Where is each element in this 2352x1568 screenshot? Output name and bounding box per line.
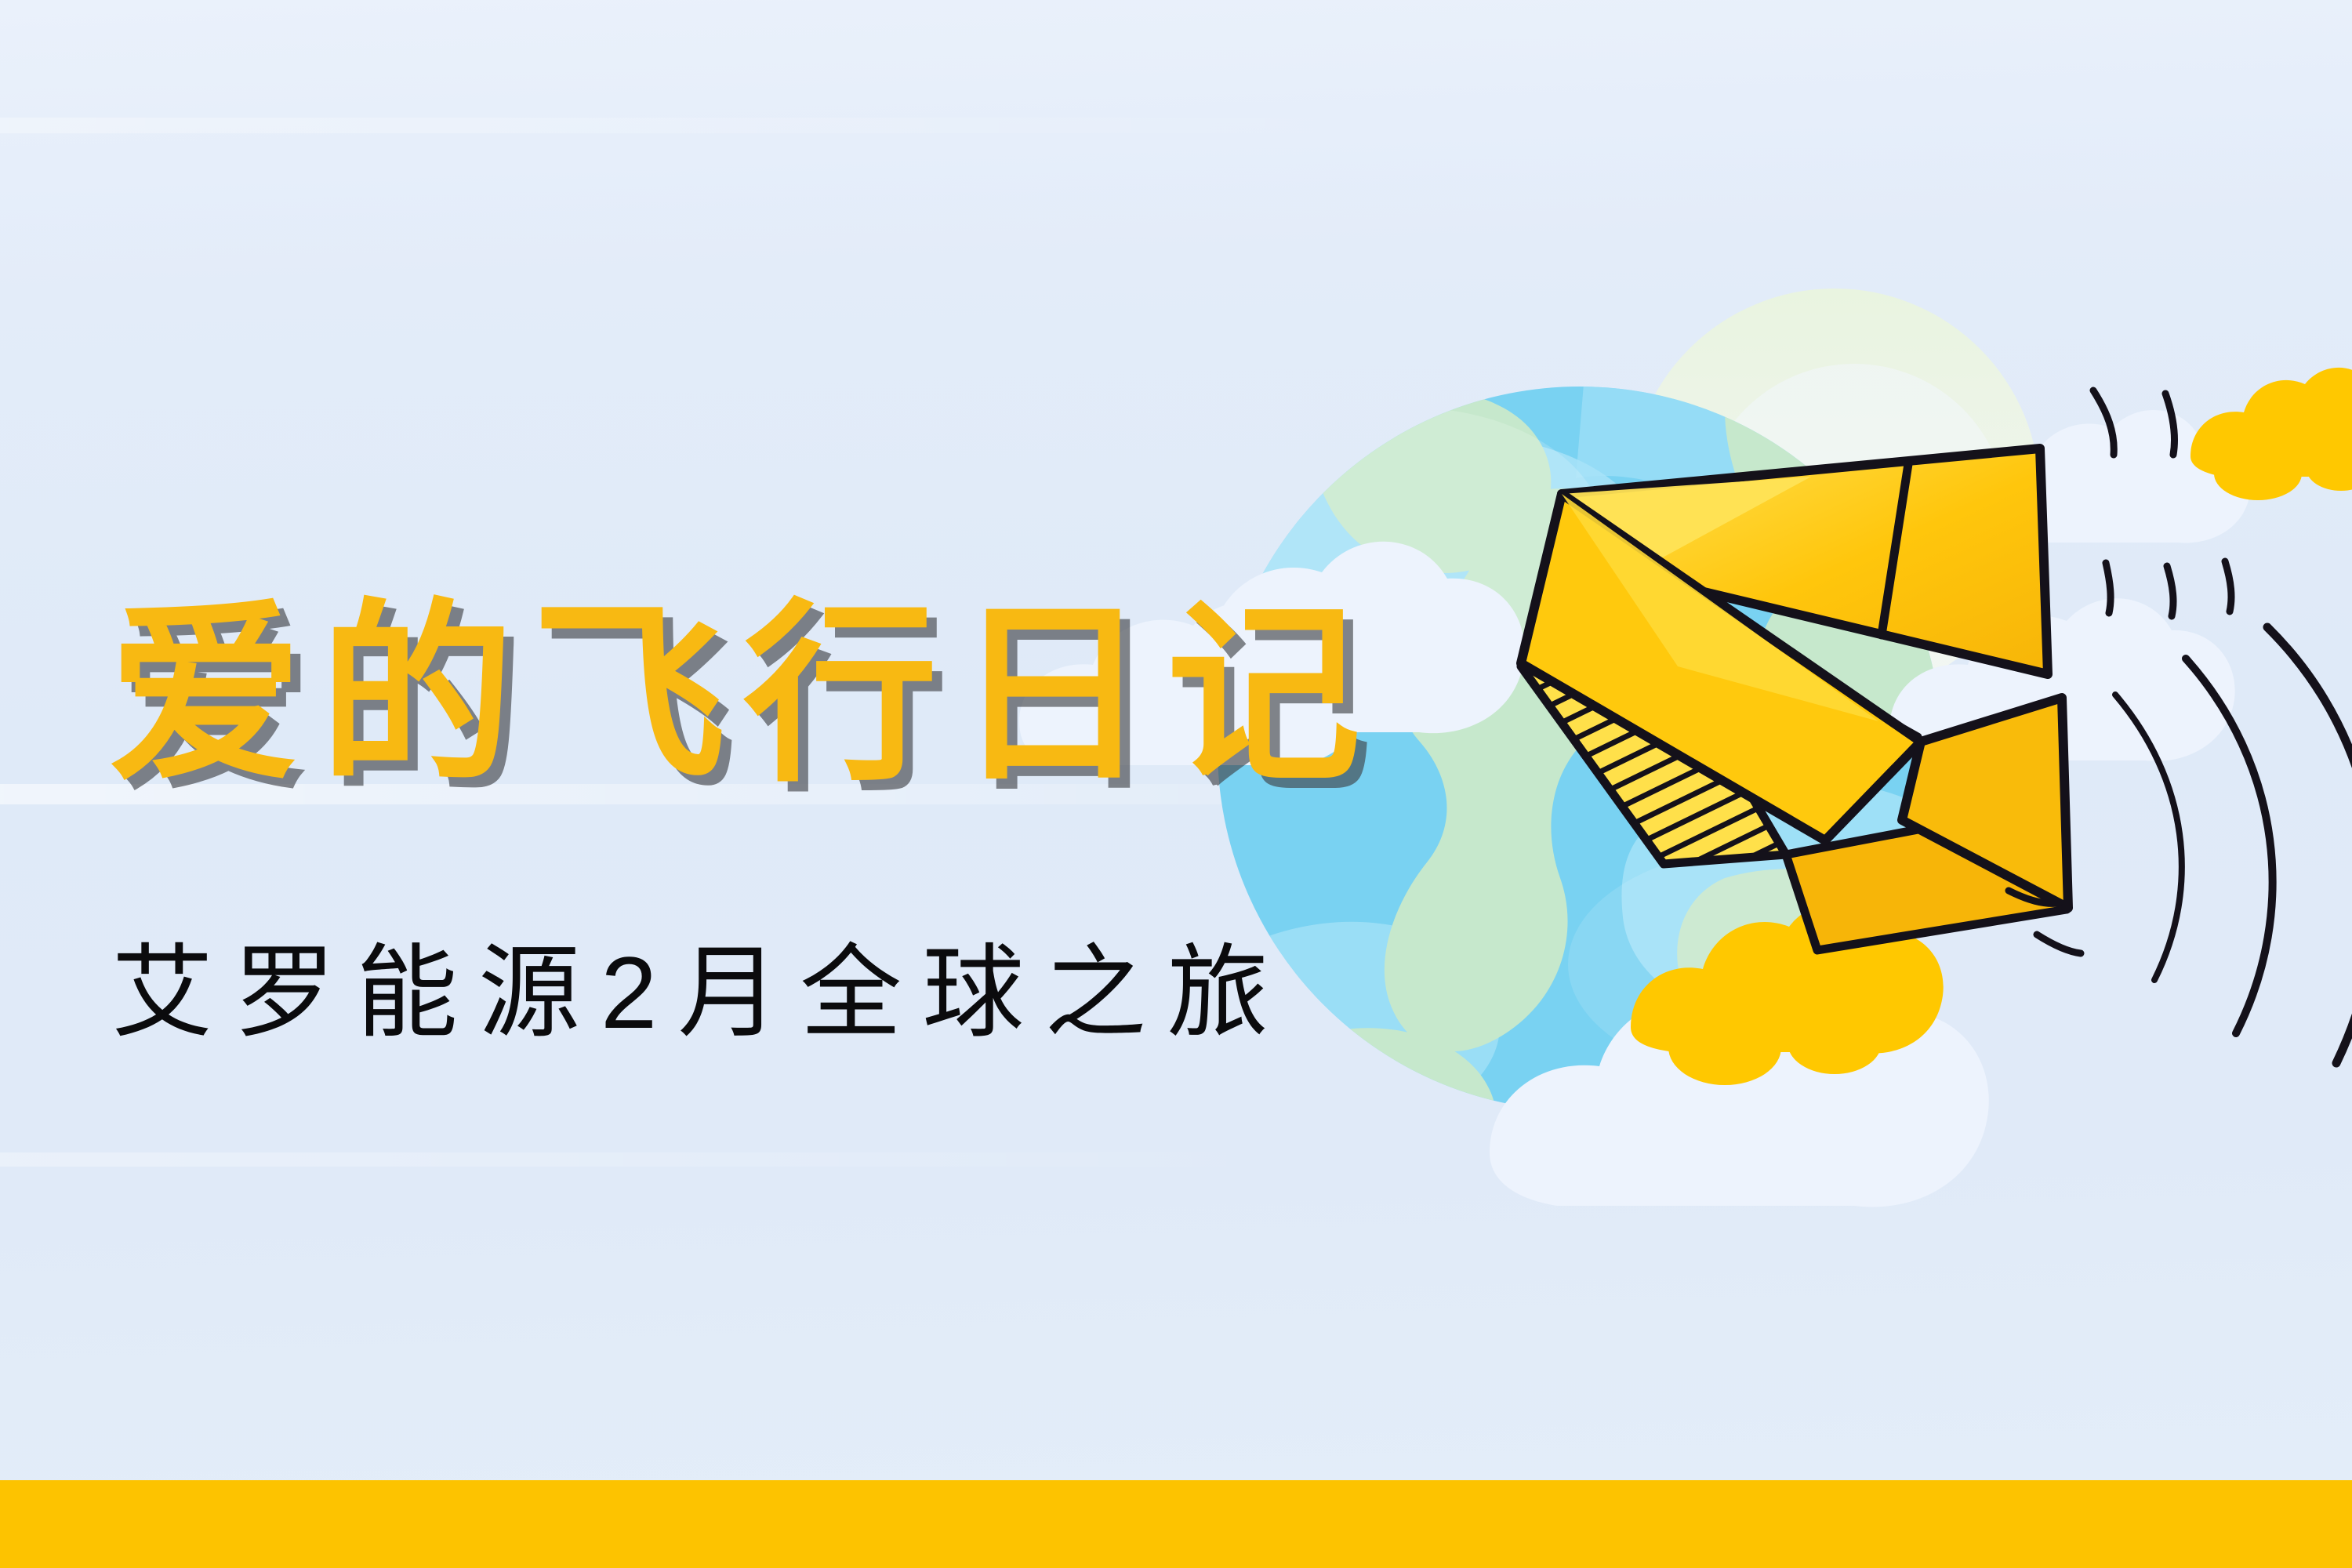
accent-bar-bottom [0, 1480, 2352, 1568]
background-streak-top [0, 118, 2352, 133]
slide-canvas: 爱的飞行日记 艾罗能源2月全球之旅 [0, 0, 2352, 1568]
page-subtitle: 艾罗能源2月全球之旅 [111, 933, 1289, 1052]
page-title: 爱的飞行日记 [108, 590, 1378, 800]
